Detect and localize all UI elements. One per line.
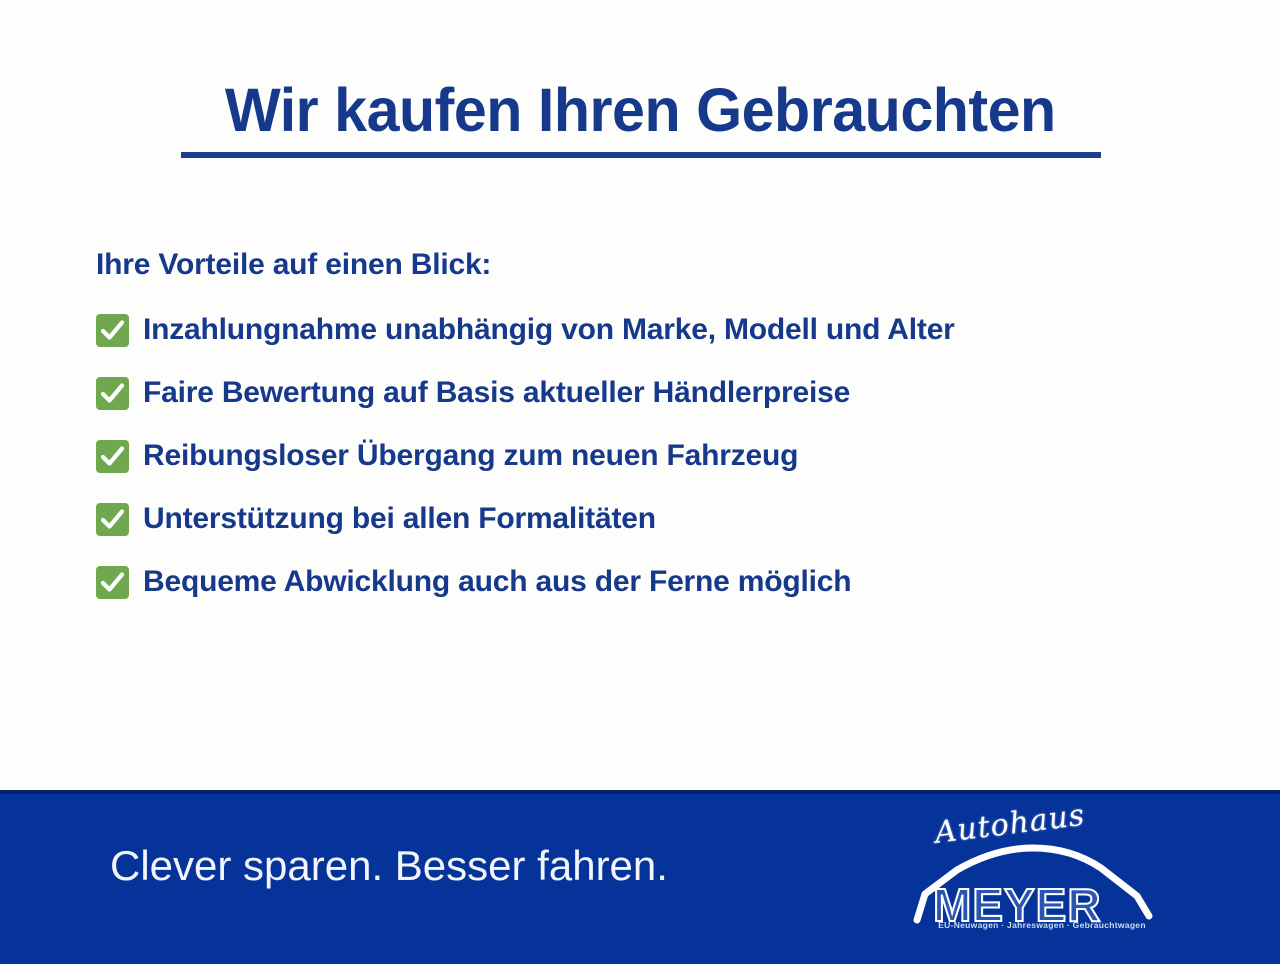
benefits-subheading: Ihre Vorteile auf einen Blick: <box>96 248 491 282</box>
check-square-icon <box>96 377 129 410</box>
logo-tagline: EU-Neuwagen · Jahreswagen · Gebrauchtwag… <box>927 920 1157 930</box>
list-item-label: Inzahlungnahme unabhängig von Marke, Mod… <box>143 315 955 345</box>
list-item: Unterstützung bei allen Formalitäten <box>96 497 1226 541</box>
page-title: Wir kaufen Ihren Gebrauchten <box>225 78 1056 142</box>
footer-banner: Clever sparen. Besser fahren. Autohaus M… <box>0 790 1280 964</box>
check-square-icon <box>96 503 129 536</box>
promo-poster: Wir kaufen Ihren Gebrauchten Ihre Vortei… <box>0 0 1280 960</box>
list-item: Inzahlungnahme unabhängig von Marke, Mod… <box>96 308 1226 352</box>
list-item: Bequeme Abwicklung auch aus der Ferne mö… <box>96 560 1226 604</box>
check-square-icon <box>96 314 129 347</box>
benefits-list: Inzahlungnahme unabhängig von Marke, Mod… <box>96 308 1226 623</box>
list-item-label: Reibungsloser Übergang zum neuen Fahrzeu… <box>143 441 798 471</box>
list-item-label: Faire Bewertung auf Basis aktueller Händ… <box>143 378 850 408</box>
list-item: Faire Bewertung auf Basis aktueller Händ… <box>96 371 1226 415</box>
footer-slogan: Clever sparen. Besser fahren. <box>110 842 668 890</box>
check-square-icon <box>96 440 129 473</box>
check-square-icon <box>96 566 129 599</box>
list-item: Reibungsloser Übergang zum neuen Fahrzeu… <box>96 434 1226 478</box>
title-underline-rule <box>181 152 1101 158</box>
list-item-label: Unterstützung bei allen Formalitäten <box>143 504 656 534</box>
dealer-logo: Autohaus MEYER EU-Neuwagen · Jahreswagen… <box>905 812 1160 947</box>
page-title-block: Wir kaufen Ihren Gebrauchten <box>0 78 1280 142</box>
list-item-label: Bequeme Abwicklung auch aus der Ferne mö… <box>143 567 851 597</box>
